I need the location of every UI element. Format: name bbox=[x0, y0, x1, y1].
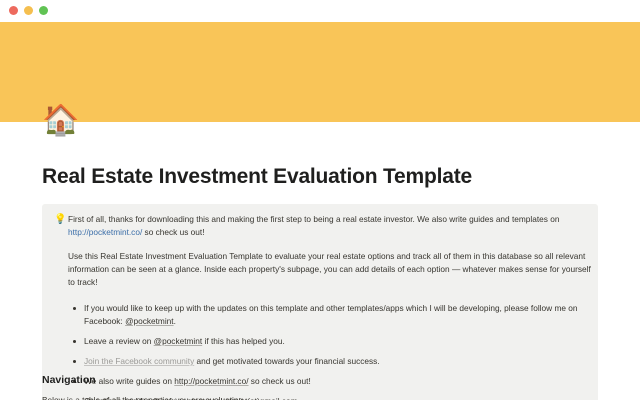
house-icon[interactable]: 🏠 bbox=[42, 106, 79, 136]
bullet-3-part2: so check us out! bbox=[249, 376, 311, 386]
list-item: Leave a review on @pocketmint if this ha… bbox=[84, 335, 586, 348]
callout-block: 💡 First of all, thanks for downloading t… bbox=[42, 204, 598, 400]
bullet-1-part1: Leave a review on bbox=[84, 336, 154, 346]
page-title: Real Estate Investment Evaluation Templa… bbox=[42, 165, 472, 189]
lightbulb-icon: 💡 bbox=[54, 213, 68, 227]
minimize-button[interactable] bbox=[24, 6, 33, 15]
maximize-button[interactable] bbox=[39, 6, 48, 15]
callout-p1-part1: First of all, thanks for downloading thi… bbox=[68, 214, 559, 224]
page-cover-banner[interactable] bbox=[0, 22, 640, 122]
callout-first-paragraph: 💡 First of all, thanks for downloading t… bbox=[54, 213, 586, 239]
callout-bullet-list: If you would like to keep up with the up… bbox=[54, 302, 586, 400]
pocketmint-link-2[interactable]: http://pocketmint.co/ bbox=[174, 376, 248, 386]
facebook-pocketmint-link[interactable]: @pocketmint bbox=[125, 316, 174, 326]
bullet-2-part2: and get motivated towards your financial… bbox=[194, 356, 379, 366]
callout-p1-part2: so check us out! bbox=[142, 227, 204, 237]
list-item: If you would like to keep up with the up… bbox=[84, 302, 586, 328]
pocketmint-link-1[interactable]: http://pocketmint.co/ bbox=[68, 227, 142, 237]
close-button[interactable] bbox=[9, 6, 18, 15]
bullet-1-part2: if this has helped you. bbox=[202, 336, 285, 346]
page-content: 🏠 Real Estate Investment Evaluation Temp… bbox=[0, 122, 640, 400]
bullet-3-part1: We also write guides on bbox=[84, 376, 174, 386]
facebook-community-link[interactable]: Join the Facebook community bbox=[84, 356, 194, 366]
app-window: 🏠 Real Estate Investment Evaluation Temp… bbox=[0, 0, 640, 400]
list-item: Join the Facebook community and get moti… bbox=[84, 355, 586, 368]
review-pocketmint-link[interactable]: @pocketmint bbox=[154, 336, 203, 346]
list-item: We also write guides on http://pocketmin… bbox=[84, 375, 586, 388]
callout-paragraph-2: Use this Real Estate Investment Evaluati… bbox=[68, 250, 596, 289]
window-titlebar bbox=[0, 0, 640, 22]
callout-paragraph-1-text: First of all, thanks for downloading thi… bbox=[68, 213, 586, 239]
navigation-subtext: Below is a table of all the properties y… bbox=[42, 394, 243, 400]
navigation-heading: Navigation bbox=[42, 374, 96, 386]
window-controls bbox=[9, 6, 48, 15]
bullet-0-part2: . bbox=[174, 316, 176, 326]
